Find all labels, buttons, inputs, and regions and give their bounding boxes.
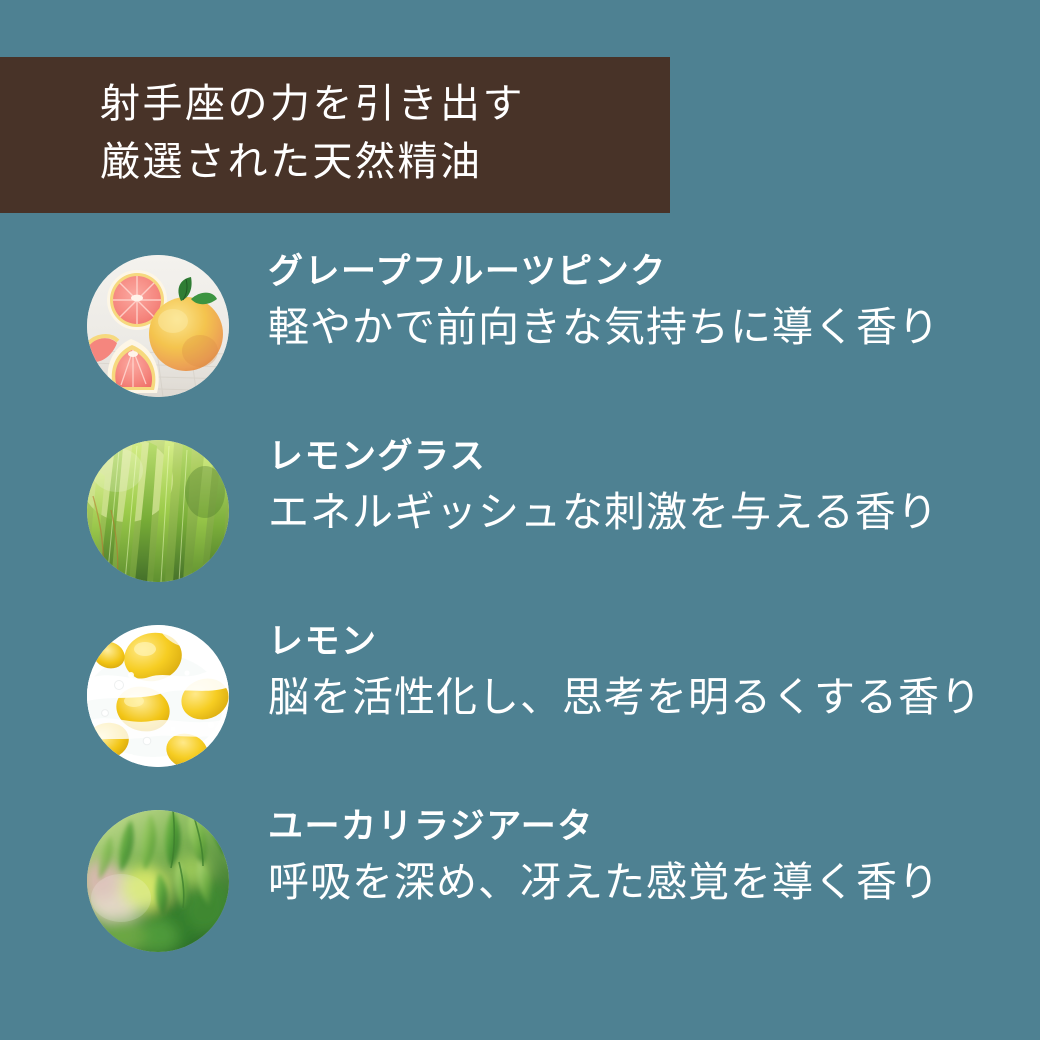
oil-list-item: グレープフルーツピンク 軽やかで前向きな気持ちに導く香り — [0, 255, 1040, 440]
eucalyptus-photo — [87, 810, 229, 952]
poster-canvas: 射手座の力を引き出す 厳選された天然精油 — [0, 0, 1040, 1040]
oil-text-block: レモン 脳を活性化し、思考を明るくする香り — [268, 619, 1028, 725]
oil-list-item: ユーカリラジアータ 呼吸を深め、冴えた感覚を導く香り — [0, 810, 1040, 995]
grapefruit-photo — [87, 255, 229, 397]
essential-oil-list: グレープフルーツピンク 軽やかで前向きな気持ちに導く香り — [0, 255, 1040, 995]
oil-title: グレープフルーツピンク — [268, 249, 1028, 295]
oil-title: レモン — [268, 619, 1028, 665]
oil-list-item: レモン 脳を活性化し、思考を明るくする香り — [0, 625, 1040, 810]
oil-text-block: グレープフルーツピンク 軽やかで前向きな気持ちに導く香り — [268, 249, 1028, 355]
oil-list-item: レモングラス エネルギッシュな刺激を与える香り — [0, 440, 1040, 625]
lemon-photo — [87, 625, 229, 767]
oil-title: ユーカリラジアータ — [268, 804, 1028, 850]
oil-description: 脳を活性化し、思考を明るくする香り — [268, 669, 1028, 725]
oil-title: レモングラス — [268, 434, 1028, 480]
header-band: 射手座の力を引き出す 厳選された天然精油 — [0, 57, 670, 213]
oil-description: エネルギッシュな刺激を与える香り — [268, 484, 1028, 540]
oil-text-block: ユーカリラジアータ 呼吸を深め、冴えた感覚を導く香り — [268, 804, 1028, 910]
lemongrass-photo — [87, 440, 229, 582]
oil-description: 呼吸を深め、冴えた感覚を導く香り — [268, 854, 1028, 910]
oil-text-block: レモングラス エネルギッシュな刺激を与える香り — [268, 434, 1028, 540]
oil-description: 軽やかで前向きな気持ちに導く香り — [268, 299, 1028, 355]
header-title-line1: 射手座の力を引き出す — [100, 75, 670, 133]
header-title-line2: 厳選された天然精油 — [100, 133, 670, 191]
